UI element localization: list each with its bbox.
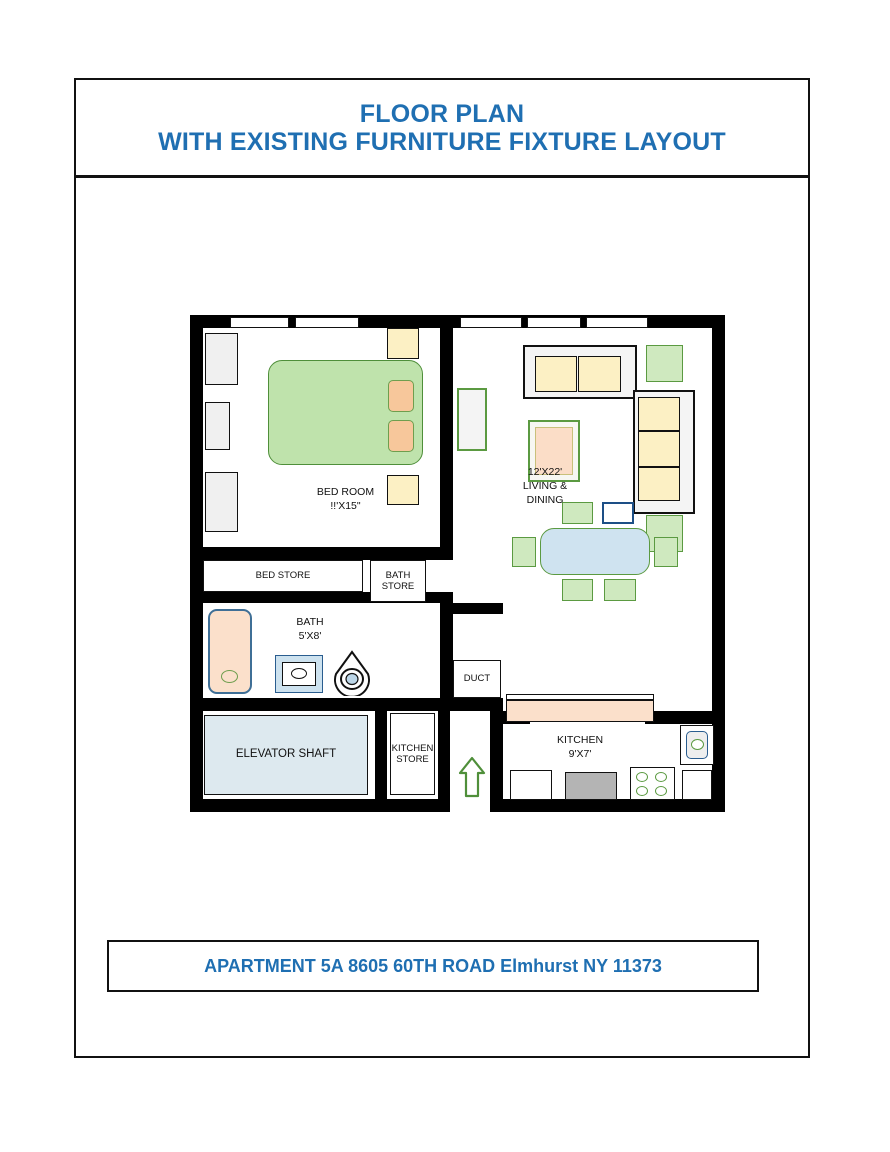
bathtub-drain (221, 670, 238, 683)
nightstand-top (387, 328, 419, 359)
side-table-top (646, 345, 683, 382)
window-living-1 (460, 317, 522, 328)
window-living-2 (527, 317, 581, 328)
kitchen-appliance (565, 772, 617, 800)
duct-label: DUCT (453, 660, 501, 698)
dining-chair-top-right (602, 502, 634, 524)
window-bedroom-1 (230, 317, 289, 328)
wall-exterior-left (190, 315, 203, 812)
wall-exterior-bottom-left (190, 799, 438, 812)
drawing-sheet: FLOOR PLAN WITH EXISTING FURNITURE FIXTU… (74, 78, 810, 1058)
bath-store-label: BATH STORE (370, 560, 426, 602)
elevator-shaft-label: ELEVATOR SHAFT (236, 747, 336, 763)
wall-kitchen-top (645, 711, 725, 724)
wardrobe-3 (205, 472, 238, 532)
floor-plan-drawing: BED ROOM !!'X15" 12'X22' LIVING & (190, 315, 725, 815)
wall-bath-bottom (190, 698, 440, 711)
stove-burner-4 (655, 786, 667, 796)
wall-bedroom-living-divider (440, 315, 453, 560)
elevator-shaft: ELEVATOR SHAFT (204, 715, 368, 795)
dining-chair-left (512, 537, 536, 567)
wall-entry-hall-right (490, 711, 503, 812)
wall-kitchenstore-right (438, 711, 450, 812)
wall-bedroom-bottom (190, 547, 453, 560)
dining-chair-right (654, 537, 678, 567)
sofa-cushion-left (535, 356, 577, 392)
kitchen-cabinet-right (682, 770, 712, 800)
wardrobe-1 (205, 333, 238, 385)
dining-chair-bottom-right (604, 579, 636, 601)
stove-burner-2 (655, 772, 667, 782)
address-block: APARTMENT 5A 8605 60TH ROAD Elmhurst NY … (107, 940, 759, 992)
address-text: APARTMENT 5A 8605 60TH ROAD Elmhurst NY … (204, 956, 662, 977)
wardrobe-2 (205, 402, 230, 450)
sectional-cushion-2 (638, 431, 680, 467)
pillow-2 (388, 420, 414, 452)
title-block: FLOOR PLAN WITH EXISTING FURNITURE FIXTU… (76, 80, 808, 178)
room-label-bath: BATH 5'X8' (270, 615, 350, 643)
kitchen-stove (630, 767, 675, 800)
window-bedroom-2 (295, 317, 359, 328)
stove-burner-1 (636, 772, 648, 782)
kitchen-counter-top (506, 700, 654, 722)
dining-table (540, 528, 650, 575)
toilet-icon (332, 650, 372, 696)
bed-store-label: BED STORE (203, 560, 363, 592)
pillow-1 (388, 380, 414, 412)
wall-nib-duct-right (440, 603, 503, 614)
room-label-bedroom: BED ROOM !!'X15" (268, 485, 423, 513)
sectional-cushion-3 (638, 467, 680, 501)
stove-burner-3 (636, 786, 648, 796)
wall-duct-bottom (440, 698, 503, 711)
sofa-cushion-right (578, 356, 621, 392)
wall-exterior-bottom-right (490, 799, 725, 812)
kitchen-cabinet-left (510, 770, 552, 800)
dining-chair-bottom-left (562, 579, 593, 601)
wall-exterior-right (712, 315, 725, 719)
vanity-basin-bowl (291, 668, 307, 679)
window-living-3 (586, 317, 648, 328)
wall-elevator-right (375, 711, 387, 799)
sectional-cushion-1 (638, 397, 680, 431)
kitchen-sink-drain (691, 739, 704, 750)
sheet-title-line-1: FLOOR PLAN (360, 100, 525, 128)
room-label-living-dining: 12'X22' LIVING & DINING (490, 465, 600, 508)
room-label-kitchen: KITCHEN 9'X7' (530, 733, 630, 761)
sheet-title-line-2: WITH EXISTING FURNITURE FIXTURE LAYOUT (158, 128, 726, 156)
tv-unit (457, 388, 487, 451)
kitchen-store-label: KITCHEN STORE (390, 713, 435, 795)
entry-arrow-icon (458, 755, 486, 799)
